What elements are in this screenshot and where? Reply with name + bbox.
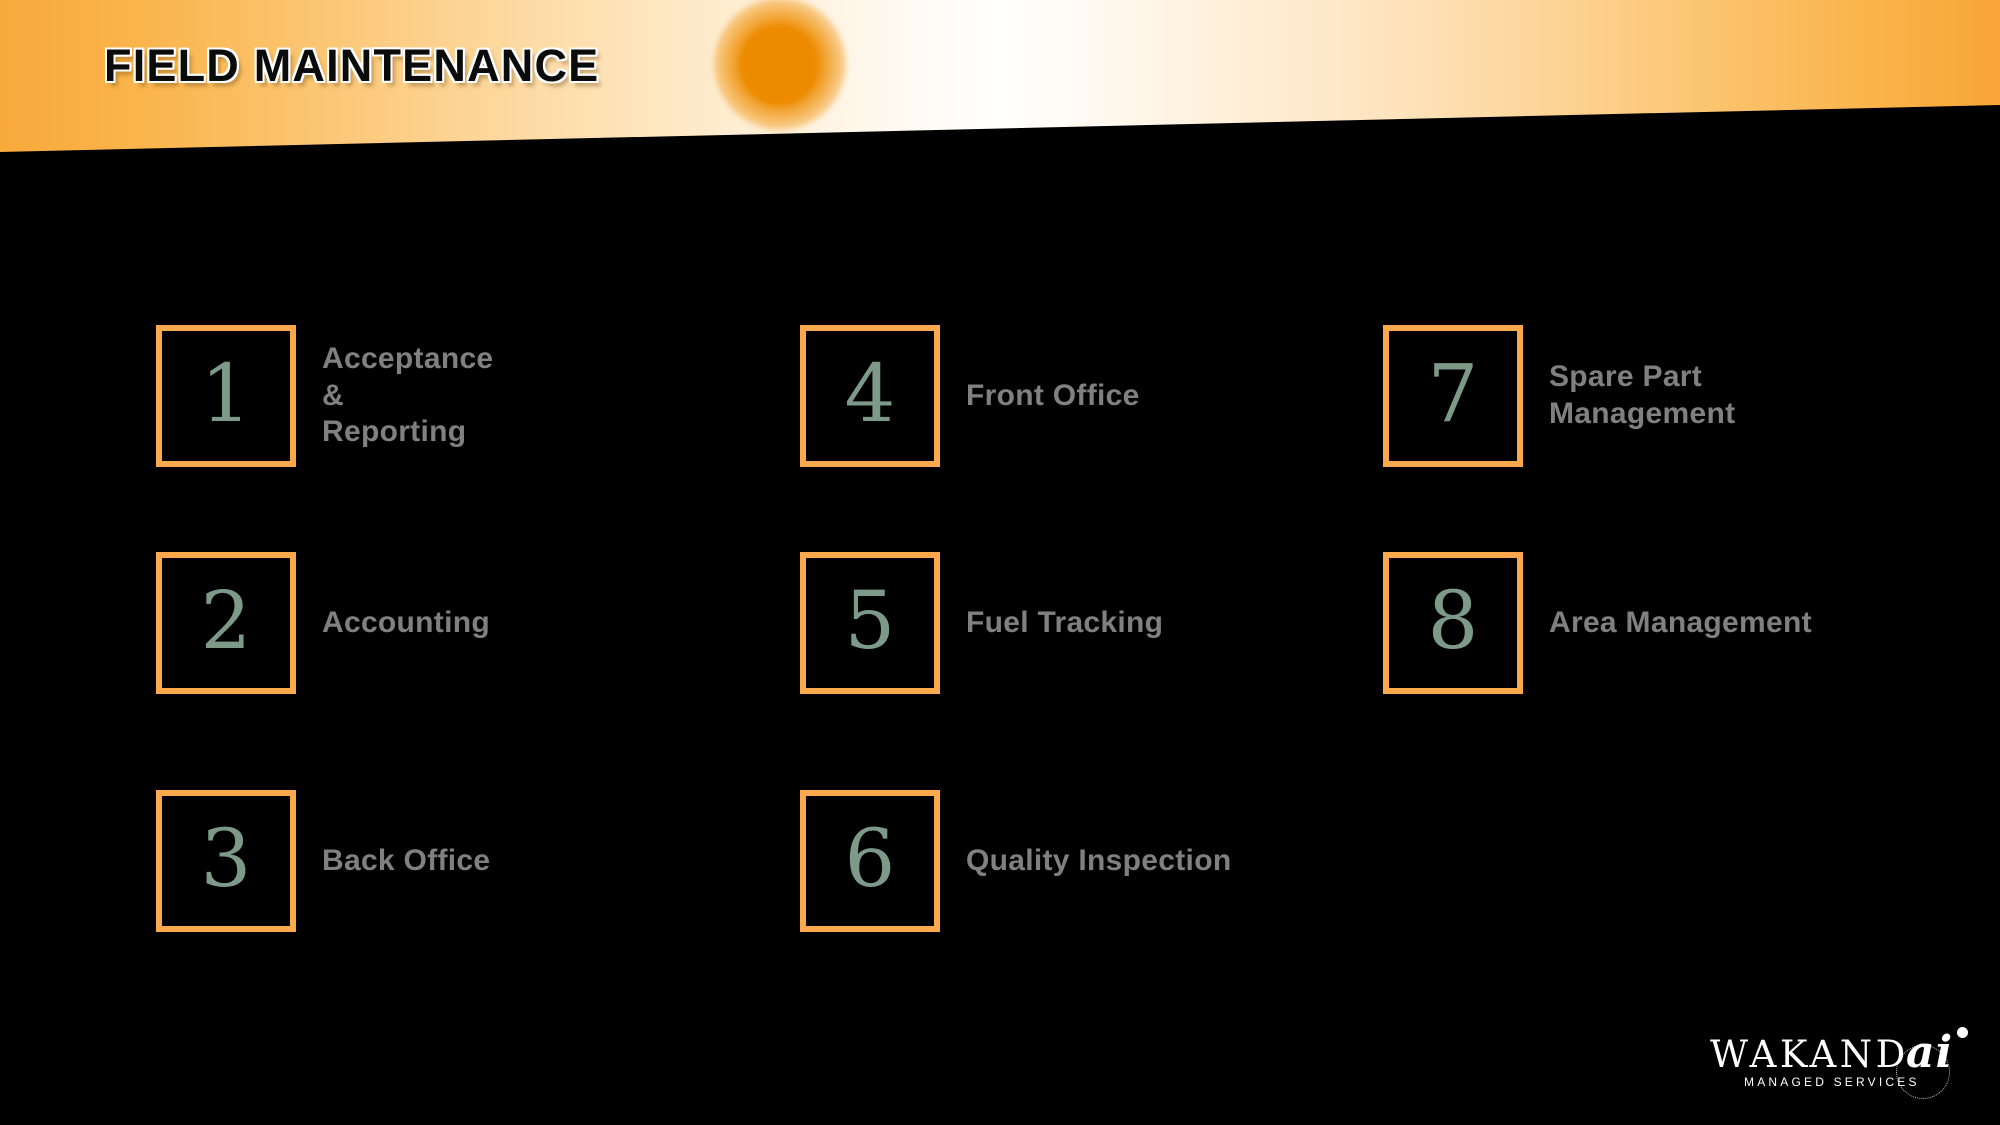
service-grid: 1 Acceptance & Reporting 2 Accounting 3 … <box>0 0 2000 1125</box>
service-item-front-office[interactable]: 4 Front Office <box>800 325 1396 467</box>
slide-canvas: FIELD MAINTENANCE 1 Acceptance & Reporti… <box>0 0 2000 1125</box>
brand-logo: WAKAND MANAGED SERVICES ai <box>1710 1021 1980 1103</box>
service-item-fuel-tracking[interactable]: 5 Fuel Tracking <box>800 552 1396 694</box>
item-number: 7 <box>1428 354 1479 434</box>
service-item-quality-inspection[interactable]: 6 Quality Inspection <box>800 790 1396 932</box>
number-box: 2 <box>156 552 296 694</box>
item-number: 1 <box>201 354 252 434</box>
item-label: Back Office <box>322 843 642 880</box>
logo-wordmark: WAKAND <box>1710 1033 1909 1076</box>
service-item-area-management[interactable]: 8 Area Management <box>1383 552 1979 694</box>
item-label: Acceptance & Reporting <box>322 341 642 451</box>
logo-monogram-text: ai <box>1906 1027 1953 1078</box>
item-number: 2 <box>201 581 252 661</box>
item-label: Quality Inspection <box>966 843 1396 880</box>
item-number: 6 <box>845 819 896 899</box>
item-label: Fuel Tracking <box>966 605 1396 642</box>
number-box: 7 <box>1383 325 1523 467</box>
number-box: 4 <box>800 325 940 467</box>
number-box: 3 <box>156 790 296 932</box>
logo-monogram-icon: ai <box>1894 1023 1976 1099</box>
item-label: Accounting <box>322 605 642 642</box>
service-item-back-office[interactable]: 3 Back Office <box>156 790 642 932</box>
number-box: 6 <box>800 790 940 932</box>
number-box: 1 <box>156 325 296 467</box>
logo-dot-icon <box>1957 1027 1968 1038</box>
item-number: 5 <box>845 581 896 661</box>
service-item-spare-part-management[interactable]: 7 Spare Part Management <box>1383 325 1979 467</box>
item-number: 3 <box>201 819 252 899</box>
item-number: 4 <box>845 354 896 434</box>
item-label: Area Management <box>1549 605 1979 642</box>
item-number: 8 <box>1428 581 1479 661</box>
item-label: Spare Part Management <box>1549 359 1979 432</box>
item-label: Front Office <box>966 378 1396 415</box>
number-box: 5 <box>800 552 940 694</box>
number-box: 8 <box>1383 552 1523 694</box>
service-item-accounting[interactable]: 2 Accounting <box>156 552 642 694</box>
service-item-acceptance-reporting[interactable]: 1 Acceptance & Reporting <box>156 325 642 467</box>
